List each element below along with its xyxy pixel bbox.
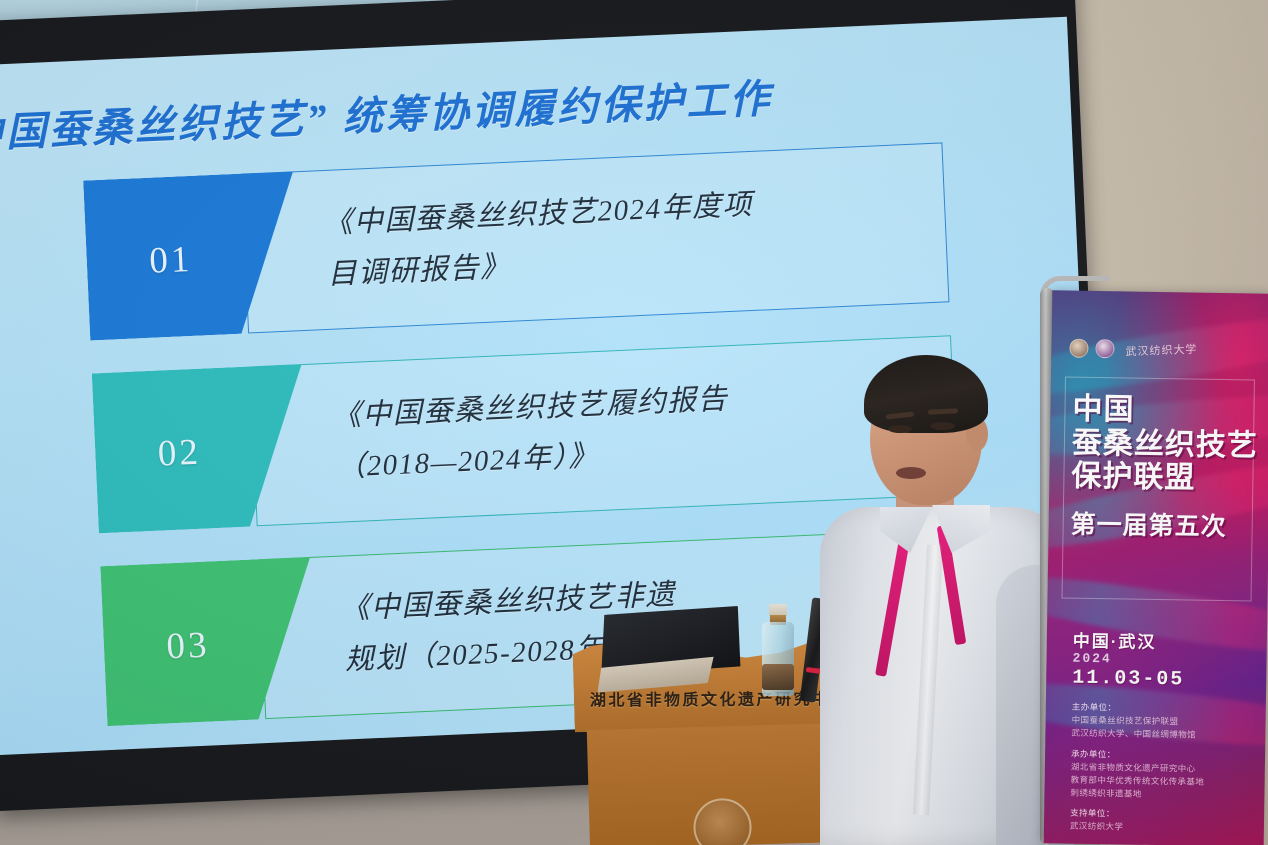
banner-university-name: 武汉纺织大学 xyxy=(1125,340,1198,359)
slide-item-number: 03 xyxy=(166,623,211,668)
speaker-mouth xyxy=(896,467,926,479)
speaker-eye-right xyxy=(930,422,955,430)
banner-year: 2024 xyxy=(1072,651,1111,667)
banner-title-line1: 中国 xyxy=(1072,393,1268,430)
slide-item-number: 01 xyxy=(148,237,193,282)
conference-room-scene: 中国蚕桑丝织技艺” 统筹协调履约保护工作 01 《中国蚕桑丝织技艺2024年度项… xyxy=(0,0,1268,845)
slide-item-number: 02 xyxy=(157,430,202,475)
banner-subtitle: 第一届第五次 xyxy=(1070,505,1268,545)
banner-title-line3: 保护联盟 xyxy=(1071,460,1268,497)
water-bottle xyxy=(762,604,794,696)
slide-item-01: 01 《中国蚕桑丝织技艺2024年度项 目调研报告》 xyxy=(83,142,949,340)
speaker-hair xyxy=(864,355,988,433)
slide-item-text: 《中国蚕桑丝织技艺2024年度项 目调研报告》 xyxy=(293,151,768,332)
banner-place: 中国·武汉 xyxy=(1073,627,1157,653)
emblem-icon-1 xyxy=(1069,339,1088,358)
banner-logos: 武汉纺织大学 xyxy=(1069,339,1197,360)
banner-title-line2: 蚕桑丝织技艺 xyxy=(1072,426,1268,463)
bottle-label xyxy=(762,664,794,690)
speaker-person xyxy=(828,355,1063,845)
banner-date: 11.03-05 xyxy=(1072,667,1184,692)
emblem-icon-2 xyxy=(1095,339,1114,358)
banner-credits: 主办单位： 中国蚕桑丝织技艺保护联盟 武汉纺织大学、中国丝绸博物馆 承办单位： … xyxy=(1070,701,1262,837)
slide-title: 中国蚕桑丝织技艺” 统筹协调履约保护工作 xyxy=(0,66,773,160)
banner-title: 中国 蚕桑丝织技艺 保护联盟 xyxy=(1071,393,1268,497)
event-banner: 武汉纺织大学 中国 蚕桑丝织技艺 保护联盟 第一届第五次 中国·武汉 2024 … xyxy=(1044,290,1268,845)
host-3: 刺绣绣织非遗基地 xyxy=(1070,787,1260,803)
support-1: 武汉纺织大学 xyxy=(1070,820,1260,836)
speaker-eye-left xyxy=(888,425,912,433)
organizer-2: 武汉纺织大学、中国丝绸博物馆 xyxy=(1071,727,1261,743)
slide-item-text: 《中国蚕桑丝织技艺履约报告 （2018—2024年）》 xyxy=(302,345,743,524)
